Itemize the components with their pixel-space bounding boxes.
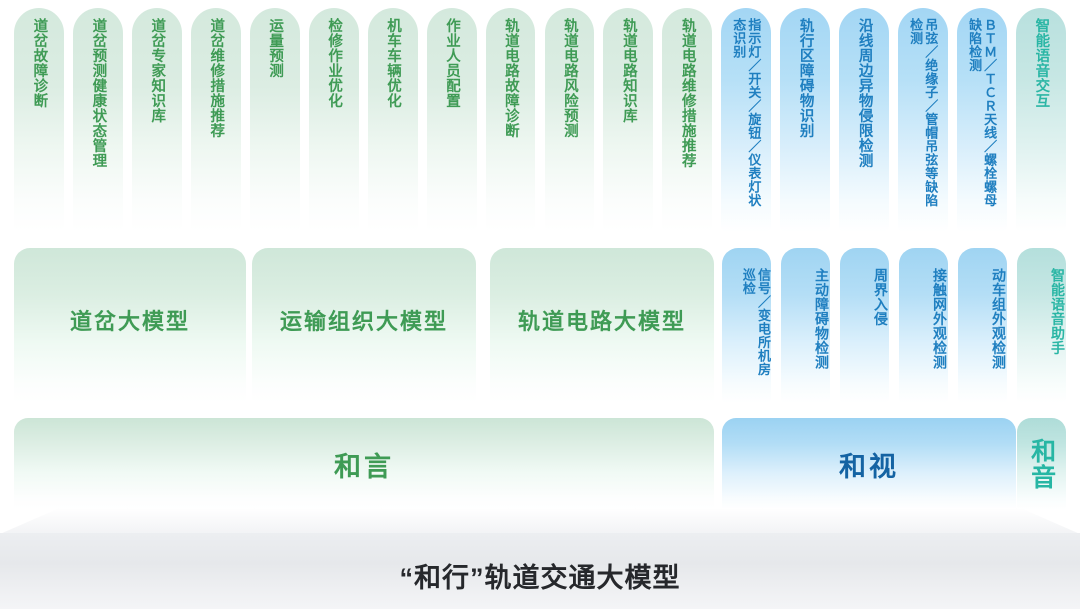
application-card-label: 沿线周边异物侵限检测 bbox=[856, 18, 873, 168]
diagram-canvas: 道岔故障诊断道岔预测健康状态管理道岔专家知识库道岔维修措施推荐运量预测检修作业优… bbox=[0, 0, 1080, 609]
platform-bar-label: 和音 bbox=[1028, 438, 1054, 490]
application-card-label: 轨道电路知识库 bbox=[620, 18, 637, 123]
application-card-label: 道岔维修措施推荐 bbox=[207, 18, 224, 138]
model-card-label: 信号／变电所机房巡检 bbox=[722, 268, 771, 386]
model-card[interactable]: 信号／变电所机房巡检 bbox=[722, 248, 771, 403]
model-card-label: 接触网外观检测 bbox=[899, 268, 948, 370]
application-card[interactable]: ＢＴＭ／ＴＣＲ天线／螺栓螺母缺陷检测 bbox=[957, 8, 1007, 232]
application-card-label: 指示灯／开关／旋钮／仪表灯状态识别 bbox=[731, 18, 761, 216]
platform-bar[interactable]: 和视 bbox=[722, 418, 1016, 510]
application-card[interactable]: 作业人员配置 bbox=[427, 8, 477, 232]
platform-bar-label: 和视 bbox=[839, 445, 899, 484]
application-card[interactable]: 指示灯／开关／旋钮／仪表灯状态识别 bbox=[721, 8, 771, 232]
application-card-label: 轨道电路故障诊断 bbox=[502, 18, 519, 138]
application-card-label: 道岔预测健康状态管理 bbox=[90, 18, 107, 168]
application-card[interactable]: 机车车辆优化 bbox=[368, 8, 418, 232]
application-card-label: ＢＴＭ／ＴＣＲ天线／螺栓螺母缺陷检测 bbox=[967, 18, 997, 216]
model-card[interactable]: 智能语音助手 bbox=[1017, 248, 1066, 403]
application-card-label: 轨道电路风险预测 bbox=[561, 18, 578, 138]
application-card-label: 作业人员配置 bbox=[443, 18, 460, 108]
platform-bar-label: 和言 bbox=[334, 445, 394, 484]
model-card[interactable]: 道岔大模型 bbox=[14, 248, 246, 403]
application-card-label: 道岔专家知识库 bbox=[148, 18, 165, 123]
application-card-label: 吊弦／绝缘子／管帽吊弦等缺陷检测 bbox=[908, 18, 938, 216]
foundation-title: “和行”轨道交通大模型 bbox=[0, 556, 1080, 595]
application-card[interactable]: 轨道电路故障诊断 bbox=[486, 8, 536, 232]
application-card-label: 运量预测 bbox=[266, 18, 283, 78]
application-card[interactable]: 智能语音交互 bbox=[1016, 8, 1066, 232]
application-card[interactable]: 轨行区障碍物识别 bbox=[780, 8, 830, 232]
application-card-label: 轨道电路维修措施推荐 bbox=[679, 18, 696, 168]
model-card[interactable]: 主动障碍物检测 bbox=[781, 248, 830, 403]
slab-top-face bbox=[0, 508, 1080, 534]
application-card-label: 道岔故障诊断 bbox=[31, 18, 48, 108]
application-card-label: 智能语音交互 bbox=[1033, 18, 1050, 108]
platform-bar[interactable]: 和言 bbox=[14, 418, 714, 510]
application-card[interactable]: 轨道电路知识库 bbox=[603, 8, 653, 232]
model-card-label: 道岔大模型 bbox=[14, 304, 246, 336]
model-card-label: 主动障碍物检测 bbox=[781, 268, 830, 370]
foundation-slab: “和行”轨道交通大模型 bbox=[0, 508, 1080, 609]
application-card[interactable]: 道岔故障诊断 bbox=[14, 8, 64, 232]
application-card-label: 轨行区障碍物识别 bbox=[797, 18, 814, 138]
model-card[interactable]: 动车组外观检测 bbox=[958, 248, 1007, 403]
application-card[interactable]: 沿线周边异物侵限检测 bbox=[839, 8, 889, 232]
application-card[interactable]: 检修作业优化 bbox=[309, 8, 359, 232]
model-card-label: 运输组织大模型 bbox=[252, 304, 476, 336]
application-card-label: 机车车辆优化 bbox=[384, 18, 401, 108]
applications-row: 道岔故障诊断道岔预测健康状态管理道岔专家知识库道岔维修措施推荐运量预测检修作业优… bbox=[0, 0, 1080, 232]
models-row: 道岔大模型运输组织大模型轨道电路大模型信号／变电所机房巡检主动障碍物检测周界入侵… bbox=[0, 245, 1080, 403]
model-card[interactable]: 接触网外观检测 bbox=[899, 248, 948, 403]
application-card[interactable]: 道岔预测健康状态管理 bbox=[73, 8, 123, 232]
model-card-label: 周界入侵 bbox=[840, 268, 889, 326]
platform-bar[interactable]: 和音 bbox=[1017, 418, 1066, 510]
application-card[interactable]: 轨道电路风险预测 bbox=[545, 8, 595, 232]
application-card[interactable]: 道岔专家知识库 bbox=[132, 8, 182, 232]
model-card[interactable]: 运输组织大模型 bbox=[252, 248, 476, 403]
model-card-label: 智能语音助手 bbox=[1017, 268, 1066, 355]
application-card[interactable]: 吊弦／绝缘子／管帽吊弦等缺陷检测 bbox=[898, 8, 948, 232]
platforms-row: 和言和视和音 bbox=[0, 418, 1080, 514]
model-card[interactable]: 轨道电路大模型 bbox=[490, 248, 714, 403]
model-card[interactable]: 周界入侵 bbox=[840, 248, 889, 403]
application-card[interactable]: 道岔维修措施推荐 bbox=[191, 8, 241, 232]
application-card[interactable]: 运量预测 bbox=[250, 8, 300, 232]
model-card-label: 动车组外观检测 bbox=[958, 268, 1007, 370]
application-card[interactable]: 轨道电路维修措施推荐 bbox=[662, 8, 712, 232]
application-card-label: 检修作业优化 bbox=[325, 18, 342, 108]
model-card-label: 轨道电路大模型 bbox=[490, 304, 714, 336]
